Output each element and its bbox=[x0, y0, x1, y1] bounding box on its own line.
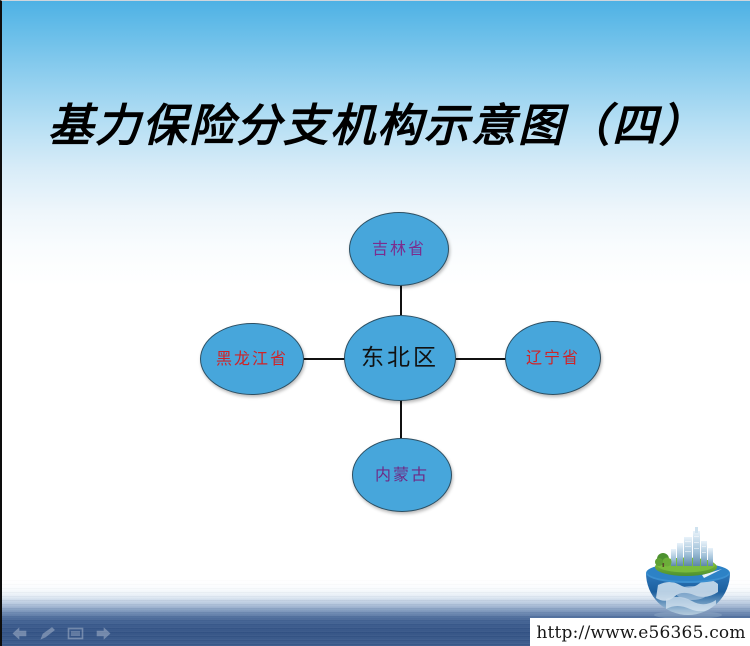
node-branch-heilongjiang[interactable]: 黑龙江省 bbox=[200, 323, 304, 395]
slide-icon[interactable] bbox=[66, 626, 85, 641]
pen-icon[interactable] bbox=[38, 626, 57, 641]
eco-globe-city-logo bbox=[632, 523, 744, 619]
website-url: http://www.e56365.com bbox=[536, 623, 745, 643]
node-branch-jilin-label: 吉林省 bbox=[372, 241, 426, 257]
slide-title: 基力保险分支机构示意图（四） bbox=[2, 101, 750, 151]
node-branch-inner-mongolia-label: 内蒙古 bbox=[375, 467, 429, 483]
presentation-nav-controls[interactable] bbox=[10, 623, 118, 643]
presentation-slide: 基力保险分支机构示意图（四） 东北区 吉林省 黑龙江省 辽宁省 内蒙古 bbox=[0, 0, 750, 646]
url-banner: http://www.e56365.com bbox=[530, 618, 750, 646]
arrow-right-icon[interactable] bbox=[94, 626, 113, 641]
node-branch-liaoning-label: 辽宁省 bbox=[526, 350, 580, 366]
node-branch-jilin[interactable]: 吉林省 bbox=[349, 212, 449, 286]
node-center-northeast-region[interactable]: 东北区 bbox=[344, 315, 456, 401]
node-branch-inner-mongolia[interactable]: 内蒙古 bbox=[352, 438, 452, 512]
node-center-label: 东北区 bbox=[361, 347, 439, 370]
arrow-left-icon[interactable] bbox=[10, 626, 29, 641]
node-branch-liaoning[interactable]: 辽宁省 bbox=[505, 321, 601, 395]
node-branch-heilongjiang-label: 黑龙江省 bbox=[216, 351, 288, 367]
